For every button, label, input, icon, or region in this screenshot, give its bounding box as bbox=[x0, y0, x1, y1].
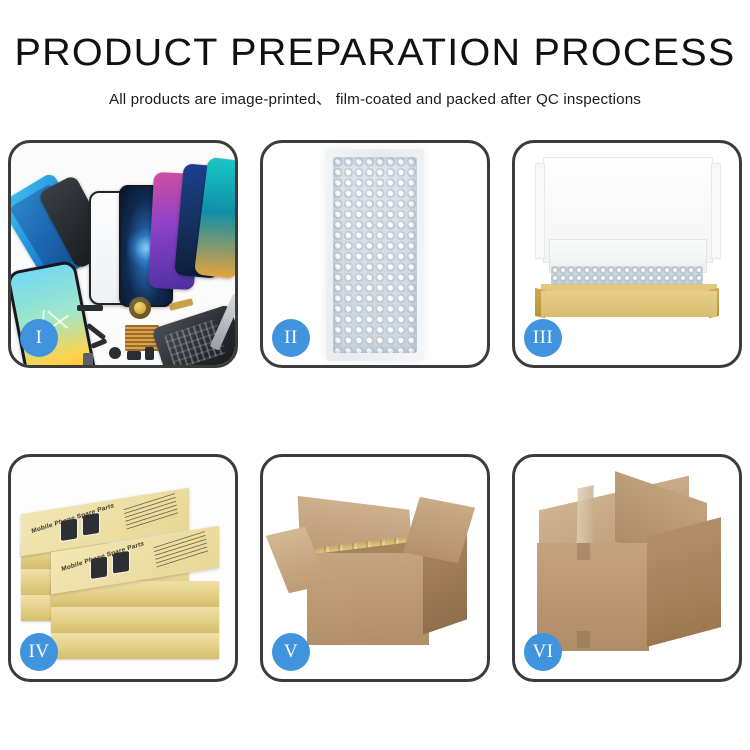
step-badge-2: II bbox=[272, 319, 310, 357]
process-step-panel-1: I bbox=[8, 140, 238, 368]
sealed-carton-front-icon bbox=[537, 543, 649, 651]
step-badge-6: VI bbox=[524, 633, 562, 671]
process-step-panel-3: III bbox=[512, 140, 742, 368]
process-step-grid: I II III bbox=[8, 140, 742, 682]
step-badge-1: I bbox=[20, 319, 58, 357]
process-step-panel-5: V bbox=[260, 454, 490, 682]
step-badge-3: III bbox=[524, 319, 562, 357]
process-step-panel-2: II bbox=[260, 140, 490, 368]
page-subtitle: All products are image-printed、 film-coa… bbox=[0, 87, 750, 109]
page-header: PRODUCT PREPARATION PROCESS All products… bbox=[0, 0, 750, 109]
step-badge-4: IV bbox=[20, 633, 58, 671]
step-badge-5: V bbox=[272, 633, 310, 671]
process-step-panel-4: Mobile Phone Spare Parts Mobile Phone Sp… bbox=[8, 454, 238, 682]
sealed-carton-side-icon bbox=[647, 517, 721, 647]
kraft-tray-front-icon bbox=[541, 291, 717, 317]
page-title: PRODUCT PREPARATION PROCESS bbox=[0, 34, 750, 74]
bubble-wrap-icon bbox=[333, 157, 417, 353]
carton-front-icon bbox=[307, 553, 429, 645]
process-step-panel-6: VI bbox=[512, 454, 742, 682]
